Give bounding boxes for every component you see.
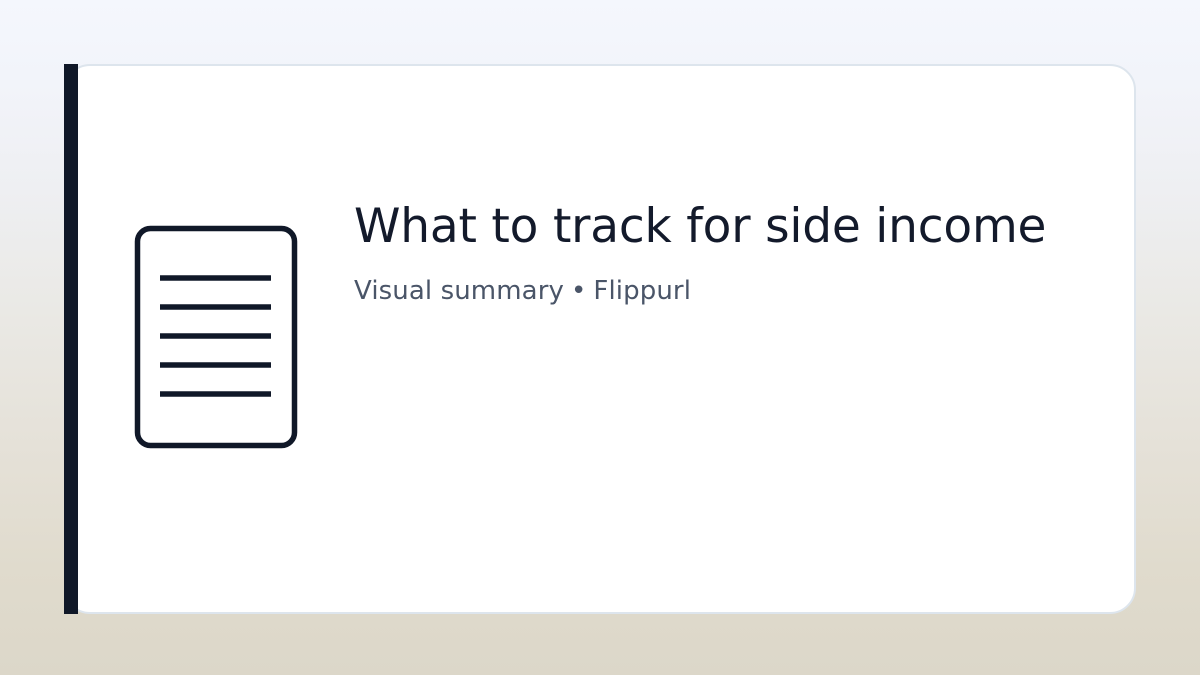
document-icon-slot [134,225,298,449]
slide-card-content: What to track for side income Visual sum… [66,66,1134,612]
document-lines-icon [134,225,298,449]
slide-accent-bar [64,64,78,614]
slide-subtitle: Visual summary•Flippurl [354,276,1074,307]
slide-subtitle-brand: Flippurl [593,276,691,306]
slide-title: What to track for side income [354,201,1074,254]
slide-subtitle-kicker: Visual summary [354,276,564,306]
slide-card: What to track for side income Visual sum… [64,64,1136,614]
slide-subtitle-separator: • [564,276,593,306]
slide-text-block: What to track for side income Visual sum… [354,201,1074,307]
